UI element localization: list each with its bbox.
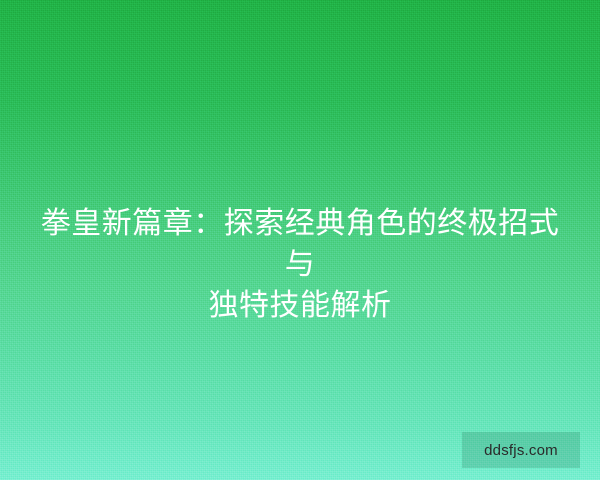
headline-text: 拳皇新篇章：探索经典角色的终极招式与 独特技能解析: [26, 203, 574, 326]
poster-canvas: 拳皇新篇章：探索经典角色的终极招式与 独特技能解析 ddsfjs.com: [0, 0, 600, 480]
watermark-label: ddsfjs.com: [484, 443, 558, 458]
watermark-badge: ddsfjs.com: [462, 432, 580, 468]
